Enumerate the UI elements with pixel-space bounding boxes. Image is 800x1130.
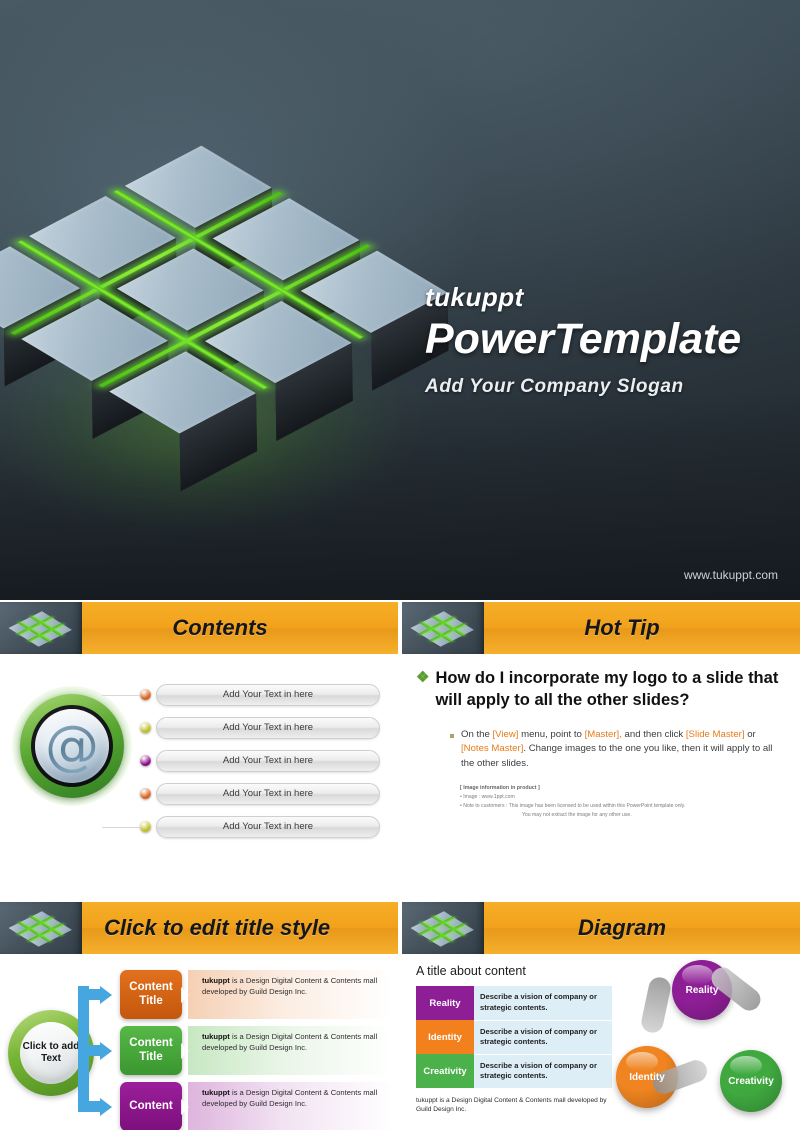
hero-text-block: tukuppt PowerTemplate Add Your Company S… — [425, 282, 785, 398]
diagram-row-label: Creativity — [416, 1054, 474, 1088]
cycle-diagram: RealityCreativityIdentity — [610, 958, 796, 1128]
at-symbol-badge: @ — [20, 694, 124, 798]
contents-row-label[interactable]: Add Your Text in here — [156, 750, 380, 772]
table-row: RealityDescribe a vision of company or s… — [416, 986, 612, 1020]
table-row: CreativityDescribe a vision of company o… — [416, 1054, 612, 1088]
content-row[interactable]: Contenttukuppt is a Design Digital Conte… — [120, 1082, 392, 1130]
hero-url: www.tukuppt.com — [684, 568, 778, 582]
contents-row[interactable]: Add Your Text in here — [140, 711, 380, 744]
contents-row-label[interactable]: Add Your Text in here — [156, 717, 380, 739]
diagram-footer: tukuppt is a Design Digital Content & Co… — [416, 1096, 621, 1116]
hottip-fine-print: [ Image information in product ] • Image… — [460, 784, 782, 820]
fine-print-line-3: You may not extract the image for any ot… — [460, 811, 782, 820]
hottip-bar-title: Hot Tip — [484, 615, 800, 641]
cube-logo-icon — [402, 902, 484, 954]
diagram-table: RealityDescribe a vision of company or s… — [416, 986, 612, 1089]
answer-keyword: [Notes Master] — [461, 743, 523, 754]
content-tag[interactable]: Content Title — [120, 970, 182, 1019]
titlestyle-body: Click to add Text Content Titletukuppt i… — [0, 954, 398, 1130]
hero-title: PowerTemplate — [425, 317, 785, 362]
fine-print-line-2: • Note to customers : This image has bee… — [460, 802, 782, 811]
hero-brand: tukuppt — [425, 282, 785, 313]
content-tag[interactable]: Content Title — [120, 1026, 182, 1075]
click-to-add-text-label: Click to add Text — [20, 1022, 82, 1084]
content-brand: tukuppt — [202, 976, 230, 985]
contents-row[interactable]: Add Your Text in here — [140, 810, 380, 843]
at-icon: @ — [45, 719, 99, 773]
contents-title-bar: Contents — [0, 602, 398, 654]
hottip-title-bar: Hot Tip — [402, 602, 800, 654]
contents-row-label[interactable]: Add Your Text in here — [156, 816, 380, 838]
titlestyle-title-bar: Click to edit title style — [0, 902, 398, 954]
bullet-dot-icon — [140, 755, 151, 766]
slide-deck-preview: tukuppt PowerTemplate Add Your Company S… — [0, 0, 800, 1130]
title-slide[interactable]: tukuppt PowerTemplate Add Your Company S… — [0, 0, 800, 600]
content-row[interactable]: Content Titletukuppt is a Design Digital… — [120, 970, 392, 1019]
cycle-node-label: Creativity — [728, 1076, 774, 1087]
cycle-arrow-icon — [639, 975, 672, 1034]
content-row[interactable]: Content Titletukuppt is a Design Digital… — [120, 1026, 392, 1075]
hottip-question-row: ❖ How do I incorporate my logo to a slid… — [416, 668, 782, 712]
bullet-dot-icon — [140, 722, 151, 733]
contents-row-list: Add Your Text in hereAdd Your Text in he… — [140, 678, 380, 843]
contents-row-label[interactable]: Add Your Text in here — [156, 684, 380, 706]
diagram-row-desc: Describe a vision of company or strategi… — [474, 1054, 612, 1088]
diagram-slide[interactable]: Diagram A title about content RealityDes… — [402, 902, 800, 1130]
contents-row[interactable]: Add Your Text in here — [140, 678, 380, 711]
contents-row-label[interactable]: Add Your Text in here — [156, 783, 380, 805]
edit-title-style-slide[interactable]: Click to edit title style Click to add T… — [0, 902, 398, 1130]
fine-print-line-1: • Image : www.1ppt.com — [460, 793, 782, 802]
square-bullet-icon — [450, 734, 454, 738]
bullet-dot-icon — [140, 788, 151, 799]
arrow-spine — [78, 986, 89, 1104]
cube-illustration — [16, 76, 443, 503]
content-description: tukuppt is a Design Digital Content & Co… — [188, 1082, 392, 1130]
content-description: tukuppt is a Design Digital Content & Co… — [188, 970, 392, 1019]
content-brand: tukuppt — [202, 1032, 230, 1041]
cube-logo-icon — [0, 902, 82, 954]
cycle-node-label: Identity — [629, 1072, 665, 1083]
diamond-bullet-icon: ❖ — [416, 669, 429, 712]
hottip-answer: On the [View] menu, point to [Master], a… — [461, 728, 782, 773]
hot-tip-slide[interactable]: Hot Tip ❖ How do I incorporate my logo t… — [402, 602, 800, 852]
content-brand: tukuppt — [202, 1088, 230, 1097]
hottip-question: How do I incorporate my logo to a slide … — [435, 668, 782, 712]
content-tag[interactable]: Content — [120, 1082, 182, 1130]
cube-logo-icon — [402, 602, 484, 654]
bullet-dot-icon — [140, 821, 151, 832]
connector-line — [102, 827, 140, 828]
diagram-title-bar: Diagram — [402, 902, 800, 954]
contents-bar-title: Contents — [82, 615, 398, 641]
titlestyle-bar-title: Click to edit title style — [82, 915, 398, 941]
contents-row[interactable]: Add Your Text in here — [140, 777, 380, 810]
cycle-node[interactable]: Creativity — [720, 1050, 782, 1112]
table-row: IdentityDescribe a vision of company or … — [416, 1020, 612, 1054]
answer-keyword: [Master], — [585, 729, 622, 740]
hottip-body: ❖ How do I incorporate my logo to a slid… — [402, 654, 800, 820]
cycle-node-label: Reality — [686, 985, 719, 996]
fine-print-heading: [ Image information in product ] — [460, 785, 540, 791]
diagram-body: A title about content RealityDescribe a … — [402, 954, 800, 1130]
diagram-row-label: Identity — [416, 1020, 474, 1054]
contents-row[interactable]: Add Your Text in here — [140, 744, 380, 777]
contents-body: @ Add Your Text in hereAdd Your Text in … — [0, 654, 398, 852]
connector-line — [102, 695, 140, 696]
answer-keyword: [View] — [492, 729, 518, 740]
diagram-bar-title: Diagram — [484, 915, 800, 941]
cube-logo-icon — [0, 602, 82, 654]
contents-slide[interactable]: Contents @ Add Your Text in hereAdd Your… — [0, 602, 398, 852]
hero-slogan: Add Your Company Slogan — [425, 376, 785, 398]
diagram-row-desc: Describe a vision of company or strategi… — [474, 986, 612, 1020]
answer-keyword: [Slide Master] — [686, 729, 745, 740]
diagram-row-label: Reality — [416, 986, 474, 1020]
diagram-row-desc: Describe a vision of company or strategi… — [474, 1020, 612, 1054]
hottip-answer-row: On the [View] menu, point to [Master], a… — [450, 728, 782, 773]
content-description: tukuppt is a Design Digital Content & Co… — [188, 1026, 392, 1075]
bullet-dot-icon — [140, 689, 151, 700]
